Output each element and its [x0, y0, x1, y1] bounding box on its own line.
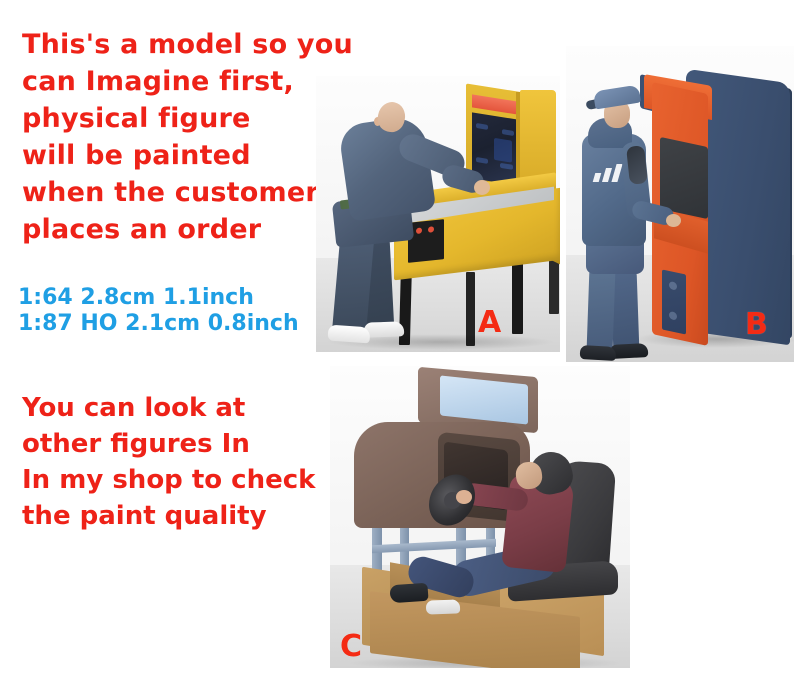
figure-a-hand: [474, 180, 490, 195]
coin-slot: [669, 311, 677, 321]
poster-canvas: This's a model so you can Imagine first,…: [0, 0, 794, 684]
figure-c-shoe: [389, 583, 428, 604]
logo-stripe: [602, 168, 612, 182]
headline-line-3: physical figure: [22, 100, 352, 137]
machine-a-coin-door: [408, 219, 444, 263]
figure-b-hand: [666, 214, 681, 227]
backglass-art: [476, 157, 488, 164]
cabinet-b-coin-door: [662, 269, 686, 334]
headline-line-5: when the customer: [22, 174, 352, 211]
coin-slot: [669, 281, 677, 291]
headline-line-4: will be painted: [22, 137, 352, 174]
backglass-art: [476, 123, 488, 130]
figure-photo-a: [316, 76, 560, 352]
coin-button: [416, 227, 422, 234]
scale-line-187: 1:87 HO 2.1cm 0.8inch: [18, 311, 348, 337]
subline-line-2: other figures In: [22, 426, 362, 462]
subline-text-block: You can look at other figures In In my s…: [22, 390, 362, 534]
subline-line-4: the paint quality: [22, 498, 362, 534]
scale-info-block: 1:64 2.8cm 1.1inch 1:87 HO 2.1cm 0.8inch: [18, 285, 348, 337]
figure-a-shoe: [327, 325, 370, 344]
figure-label-a: A: [478, 308, 501, 338]
figure-b-sleeve-print: [626, 145, 648, 185]
headline-text-block: This's a model so you can Imagine first,…: [22, 26, 352, 248]
headline-line-2: can Imagine first,: [22, 63, 352, 100]
logo-stripe: [593, 173, 602, 182]
logo-stripe: [611, 164, 622, 182]
headline-line-1: This's a model so you: [22, 26, 352, 63]
backglass-art: [494, 138, 512, 163]
machine-a-leg: [512, 254, 523, 334]
headline-line-6: places an order: [22, 211, 352, 248]
backglass-art: [502, 129, 514, 136]
scale-line-164: 1:64 2.8cm 1.1inch: [18, 285, 348, 311]
subline-line-1: You can look at: [22, 390, 362, 426]
figure-c-shoe: [426, 599, 460, 614]
subline-line-3: In my shop to check: [22, 462, 362, 498]
backglass-art: [500, 163, 513, 170]
figure-label-c: C: [340, 632, 362, 662]
figure-b-shoe: [580, 345, 617, 361]
figure-label-b: B: [745, 310, 768, 340]
coin-button: [428, 226, 434, 233]
figure-photo-c: [330, 366, 630, 668]
figure-c-hand: [456, 490, 472, 504]
figure-b-front-leg: [586, 266, 615, 355]
